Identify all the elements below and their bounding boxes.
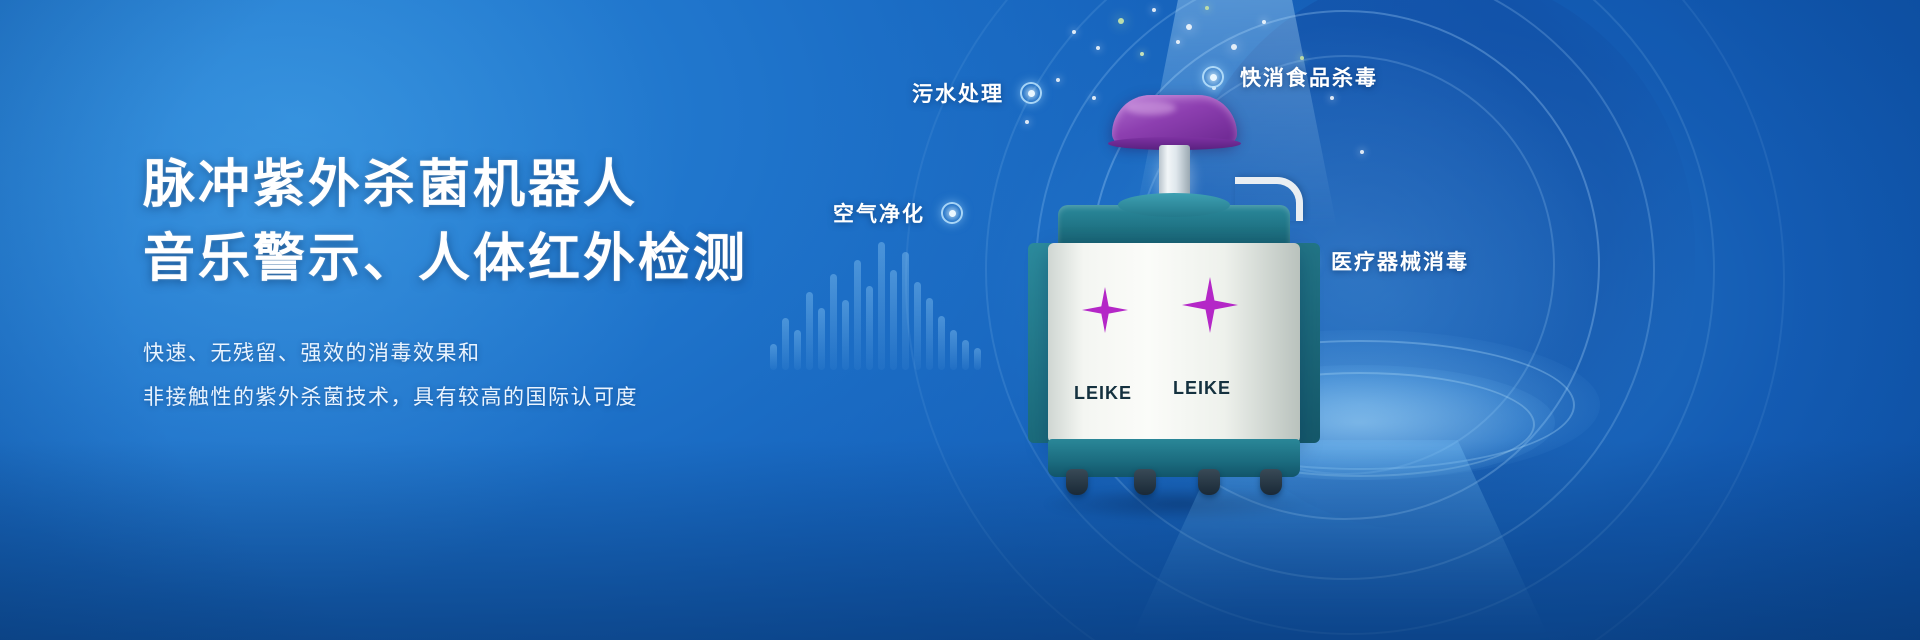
description-line-1: 快速、无残留、强效的消毒效果和 — [143, 332, 863, 376]
product-hero-banner: 脉冲紫外杀菌机器人 音乐警示、人体红外检测 快速、无残留、强效的消毒效果和 非接… — [0, 0, 1920, 640]
robot-top-housing — [1058, 205, 1290, 247]
circle-node-icon — [1202, 66, 1224, 88]
banner-copy: 脉冲紫外杀菌机器人 音乐警示、人体红外检测 快速、无残留、强效的消毒效果和 非接… — [143, 150, 863, 420]
robot-body-panel — [1048, 243, 1300, 443]
brand-logo-left: LEIKE — [1074, 383, 1132, 404]
product-image-uv-robot: LEIKE LEIKE — [1030, 95, 1320, 495]
feature-label-text: 空气净化 — [833, 198, 925, 228]
banner-description: 快速、无残留、强效的消毒效果和 非接触性的紫外杀菌技术，具有较高的国际认可度 — [143, 332, 863, 420]
feature-label-text: 快消食品杀毒 — [1240, 62, 1378, 92]
circle-node-icon — [941, 202, 963, 224]
feature-label-fastfood: 快消食品杀毒 — [1186, 62, 1378, 92]
feature-label-text: 医疗器械消毒 — [1331, 246, 1469, 276]
page-subtitle: 音乐警示、人体红外检测 — [143, 224, 863, 294]
feature-label-air: 空气净化 — [833, 198, 979, 228]
feature-label-text: 污水处理 — [912, 78, 1004, 108]
brand-logo-right: LEIKE — [1173, 378, 1231, 399]
description-line-2: 非接触性的紫外杀菌技术，具有较高的国际认可度 — [143, 376, 863, 420]
bottom-shade — [0, 440, 1920, 640]
page-title: 脉冲紫外杀菌机器人 — [143, 150, 863, 220]
